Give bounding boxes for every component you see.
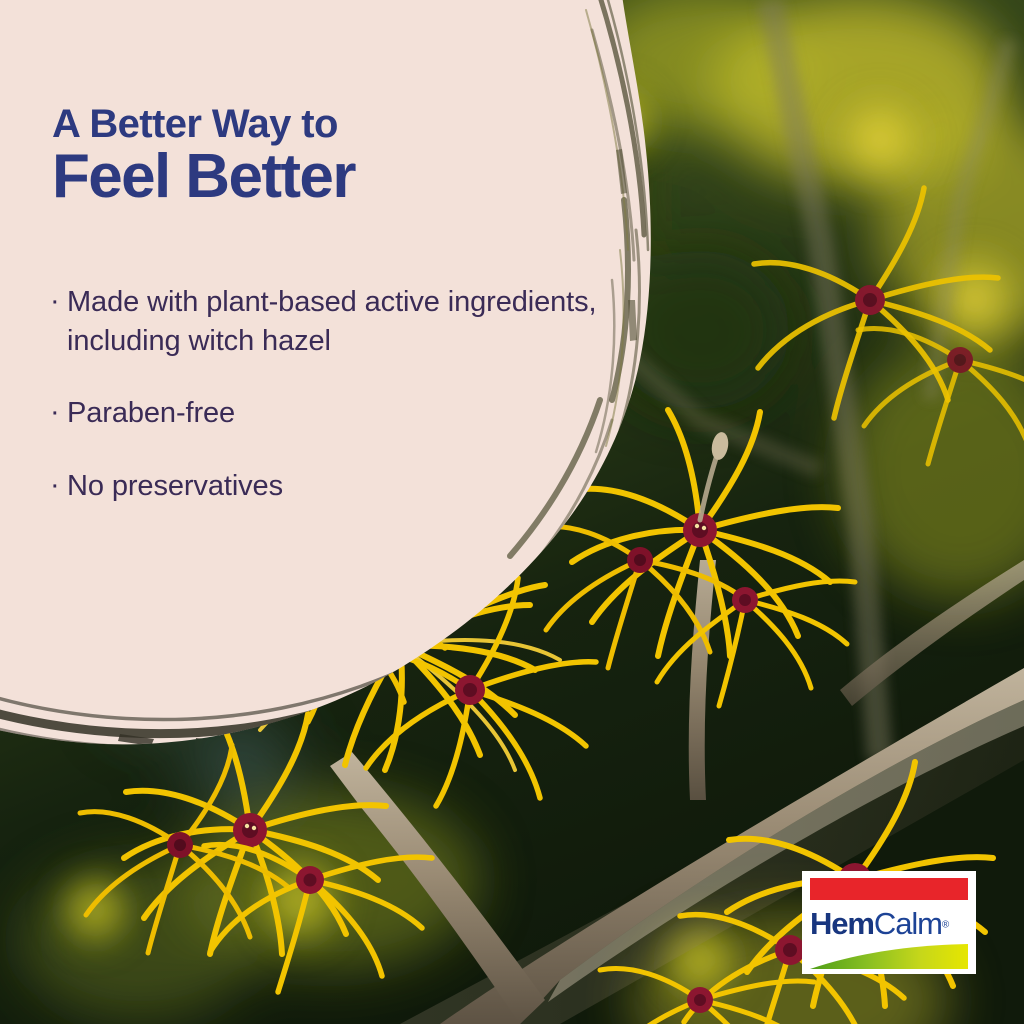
benefits-list: · Made with plant-based active ingredien… bbox=[50, 283, 625, 505]
headline-line-1: A Better Way to bbox=[52, 104, 612, 144]
bullet-marker-icon: · bbox=[50, 393, 67, 432]
bullet-marker-icon: · bbox=[50, 282, 67, 321]
logo-wordmark-calm: Calm bbox=[874, 906, 942, 941]
bullet-text: Made with plant-based active ingredients… bbox=[67, 283, 625, 360]
registered-trademark-icon: ® bbox=[942, 920, 949, 931]
logo-swoosh-icon bbox=[810, 944, 968, 970]
list-item: · Paraben-free bbox=[50, 394, 625, 433]
headline: A Better Way to Feel Better bbox=[52, 104, 612, 208]
list-item: · No preservatives bbox=[50, 467, 625, 506]
logo-wordmark-hem: Hem bbox=[810, 906, 874, 941]
bullet-text: No preservatives bbox=[67, 467, 625, 506]
headline-line-2: Feel Better bbox=[52, 146, 612, 208]
logo-red-bar bbox=[810, 878, 968, 900]
brand-logo: HemCalm® bbox=[802, 871, 976, 974]
logo-wordmark: HemCalm® bbox=[810, 907, 968, 940]
bullet-marker-icon: · bbox=[50, 466, 67, 505]
list-item: · Made with plant-based active ingredien… bbox=[50, 283, 625, 360]
bullet-text: Paraben-free bbox=[67, 394, 625, 433]
advertisement-canvas: A Better Way to Feel Better · Made with … bbox=[0, 0, 1024, 1024]
